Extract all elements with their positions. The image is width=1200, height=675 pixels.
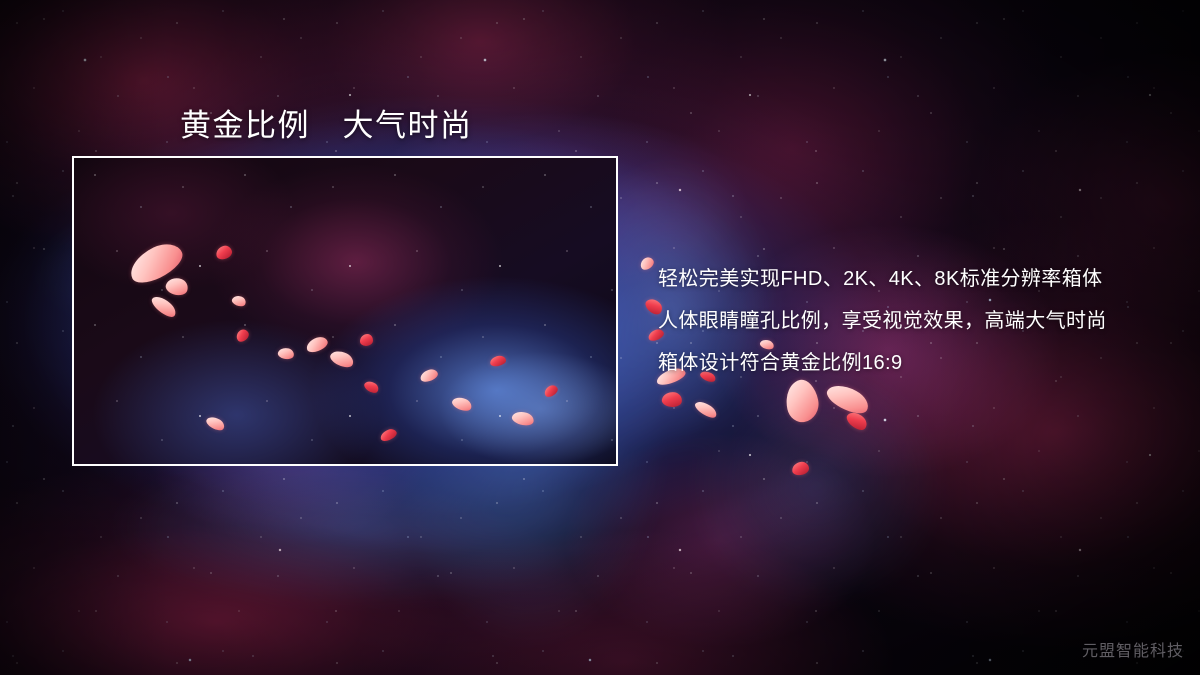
petal [844, 409, 870, 434]
body-line: 轻松完美实现FHD、2K、4K、8K标准分辨率箱体 [658, 258, 1178, 300]
presentation-slide: 黄金比例 大气时尚 轻松完美实现FHD、2K、4K、8K标准分辨率箱体 人体眼睛… [0, 0, 1200, 675]
framed-image [72, 156, 618, 466]
page-title: 黄金比例 大气时尚 [180, 100, 473, 145]
petal [791, 461, 810, 476]
watermark: 元盟智能科技 [1082, 637, 1184, 661]
petal [638, 255, 656, 272]
body-text-block: 轻松完美实现FHD、2K、4K、8K标准分辨率箱体 人体眼睛瞳孔比例，享受视觉效… [658, 258, 1178, 384]
petal [782, 377, 822, 425]
body-line: 人体眼睛瞳孔比例，享受视觉效果，高端大气时尚 [658, 300, 1178, 342]
petal [661, 391, 683, 409]
body-line: 箱体设计符合黄金比例16:9 [658, 342, 1178, 384]
petal [693, 398, 719, 421]
framed-image-starfield [74, 158, 616, 464]
petal [823, 379, 872, 419]
